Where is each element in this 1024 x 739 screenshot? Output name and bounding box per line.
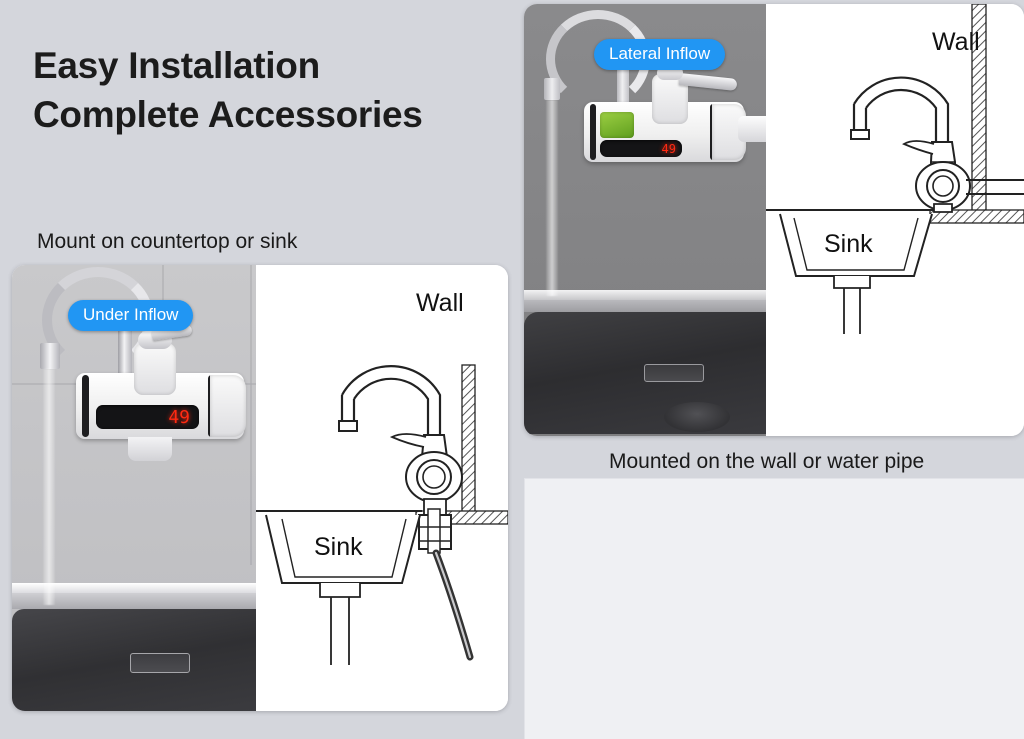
heater-base xyxy=(934,204,952,212)
infographic-stage: Easy Installation Complete Accessories M… xyxy=(0,0,1024,738)
hose-highlight xyxy=(436,553,470,657)
page-title: Easy Installation Complete Accessories xyxy=(33,42,423,140)
water-stream xyxy=(43,369,55,605)
lever-handle xyxy=(904,141,934,154)
sink-drain xyxy=(664,402,730,432)
valve-ring-inner xyxy=(933,176,953,196)
diagram-under-inflow: Wall Sink xyxy=(256,265,508,711)
panel-lateral-inflow: Lateral Inflow 49 xyxy=(524,4,1024,436)
valve-ring-inner xyxy=(423,466,445,488)
heater-ring-left xyxy=(590,104,596,160)
chrome-spout-tip xyxy=(40,343,60,369)
panel-blank-placeholder xyxy=(524,478,1024,739)
badge-lateral-inflow: Lateral Inflow xyxy=(594,39,725,70)
sink-drain-collar xyxy=(834,276,870,288)
connector-shaft xyxy=(428,509,440,553)
heater-end-cap xyxy=(210,375,246,437)
sink-overflow-slot xyxy=(644,364,704,382)
lever-handle xyxy=(392,434,426,447)
sink-drain-collar xyxy=(320,583,360,597)
lateral-inflow-schematic: Wall Sink xyxy=(766,4,1024,436)
countertop-surface xyxy=(524,300,766,312)
water-stream xyxy=(546,100,558,296)
label-wall: Wall xyxy=(416,289,464,317)
label-sink: Sink xyxy=(824,230,873,258)
under-inflow-schematic: Wall Sink xyxy=(256,265,508,711)
under-inlet-stub xyxy=(128,437,172,461)
caption-mounted-wall: Mounted on the wall or water pipe xyxy=(609,450,924,474)
wall-section xyxy=(462,365,475,513)
headline-line-2: Complete Accessories xyxy=(33,91,423,140)
caption-mount-countertop: Mount on countertop or sink xyxy=(37,230,297,254)
photo-under-install: 49 xyxy=(12,265,256,711)
energy-label-sticker xyxy=(600,112,634,138)
sink-overflow-slot xyxy=(130,653,190,673)
led-display-value: 49 xyxy=(168,407,190,428)
led-temperature-display: 49 xyxy=(600,140,682,157)
lateral-inlet-pipe xyxy=(738,116,766,142)
spout-aerator xyxy=(851,130,869,139)
led-display-value: 49 xyxy=(662,142,676,156)
label-wall: Wall xyxy=(932,28,980,56)
heater-ring-left xyxy=(82,375,89,437)
spout-inner-curve xyxy=(354,379,428,435)
panel-under-inflow: Under Inflow 49 xyxy=(12,265,508,711)
badge-under-inflow: Under Inflow xyxy=(68,300,193,331)
chrome-spout-tip xyxy=(544,78,560,100)
spout-aerator xyxy=(339,421,357,431)
led-temperature-display: 49 xyxy=(96,405,199,429)
spout-inner-curve xyxy=(866,90,936,142)
diagram-lateral-inflow: Wall Sink xyxy=(766,4,1024,436)
label-sink: Sink xyxy=(314,533,363,561)
countertop-edge xyxy=(524,290,766,300)
headline-line-1: Easy Installation xyxy=(33,45,320,86)
valve-knob xyxy=(134,343,176,395)
